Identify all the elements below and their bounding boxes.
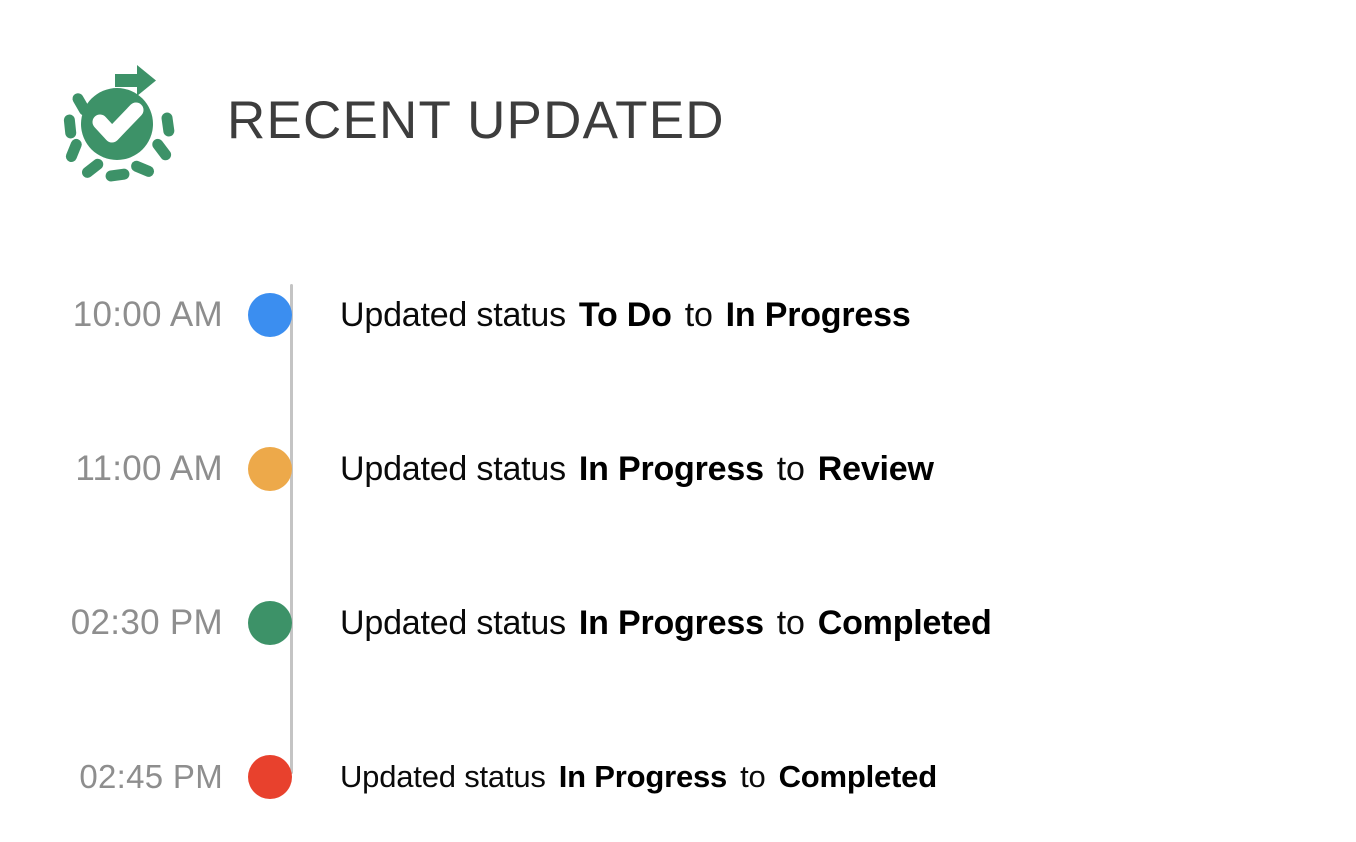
row-separator: to	[740, 759, 765, 794]
status-dot-red	[248, 755, 292, 799]
row-separator: to	[777, 450, 805, 488]
row-prefix-label: Updated status	[340, 759, 546, 794]
row-timestamp: 02:30 PM	[0, 603, 245, 643]
row-to-status: Completed	[818, 604, 992, 642]
timeline-row[interactable]: 02:45 PM Updated statusIn ProgresstoComp…	[0, 700, 1356, 842]
row-prefix-label: Updated status	[340, 296, 566, 334]
row-from-status: To Do	[579, 296, 672, 334]
timeline-row[interactable]: 10:00 AM Updated statusTo DotoIn Progres…	[0, 238, 1356, 392]
panel-header: RECENT UPDATED	[55, 52, 725, 188]
row-marker	[245, 601, 340, 645]
timeline-row[interactable]: 11:00 AM Updated statusIn ProgresstoRevi…	[0, 392, 1356, 546]
row-marker	[245, 755, 340, 799]
row-description: Updated statusIn ProgresstoCompleted	[340, 759, 1356, 795]
row-description: Updated statusTo DotoIn Progress	[340, 296, 1356, 335]
row-from-status: In Progress	[579, 604, 764, 642]
activity-timeline: 10:00 AM Updated statusTo DotoIn Progres…	[0, 238, 1356, 842]
status-dot-green	[248, 601, 292, 645]
row-marker	[245, 447, 340, 491]
row-to-status: Completed	[779, 759, 937, 794]
refresh-check-circle-icon	[55, 52, 191, 188]
row-marker	[245, 293, 340, 337]
row-description: Updated statusIn ProgresstoReview	[340, 450, 1356, 489]
row-timestamp: 11:00 AM	[0, 449, 245, 489]
recent-updated-panel: RECENT UPDATED 10:00 AM Updated statusTo…	[0, 0, 1356, 842]
status-dot-blue	[248, 293, 292, 337]
row-prefix-label: Updated status	[340, 604, 566, 642]
page-title: RECENT UPDATED	[227, 94, 725, 147]
row-from-status: In Progress	[559, 759, 727, 794]
row-to-status: In Progress	[726, 296, 911, 334]
row-separator: to	[777, 604, 805, 642]
row-prefix-label: Updated status	[340, 450, 566, 488]
status-dot-orange	[248, 447, 292, 491]
row-from-status: In Progress	[579, 450, 764, 488]
row-to-status: Review	[818, 450, 934, 488]
row-description: Updated statusIn ProgresstoCompleted	[340, 604, 1356, 643]
row-timestamp: 02:45 PM	[0, 758, 245, 796]
timeline-row[interactable]: 02:30 PM Updated statusIn ProgresstoComp…	[0, 546, 1356, 700]
row-timestamp: 10:00 AM	[0, 295, 245, 335]
row-separator: to	[685, 296, 713, 334]
